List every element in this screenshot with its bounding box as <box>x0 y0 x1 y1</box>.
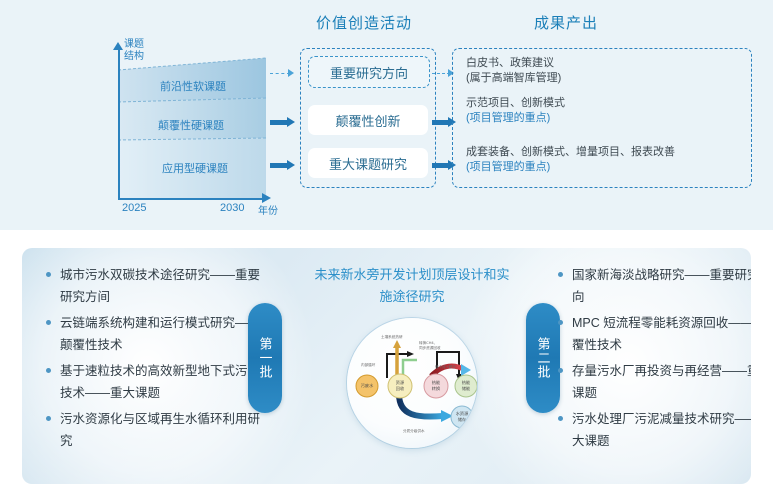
chart-y-axis-label: 课题 结构 <box>124 39 144 63</box>
list-item-text: 基于速粒技术的高效新型地下式污水技术——重大课题 <box>60 364 260 400</box>
slide-canvas: 价值创造活动 成果产出 <box>0 0 773 493</box>
arrow-chart-to-activity-2 <box>270 117 296 127</box>
list-item-text: 云链端系统构建和运行模式研究——颠覆性技术 <box>60 316 260 352</box>
svg-text:储个月+超长: 储个月+超长 <box>435 364 456 369</box>
output-item-3-line2: (项目管理的重点) <box>466 160 675 175</box>
svg-text:内部循环: 内部循环 <box>361 362 376 367</box>
header-output: 成果产出 <box>534 12 598 33</box>
header-value-creation: 价值创造活动 <box>316 12 412 33</box>
svg-text:资源: 资源 <box>396 379 405 386</box>
badge-batch-two-label: 第二批 <box>535 337 552 379</box>
bullet-icon <box>46 320 51 325</box>
list-item-text: 污水资源化与区域再生水循环利用研究 <box>60 412 260 448</box>
list-item-text: 城市污水双碳技术途径研究——重要研究方间 <box>60 268 260 304</box>
activity-box-3[interactable]: 重大课题研究 <box>308 148 428 178</box>
output-item-3-line1: 成套装备、创新模式、增量项目、报表改善 <box>466 145 675 160</box>
svg-text:转换: 转换 <box>432 385 441 392</box>
bottom-panel: 城市污水双碳技术途径研究——重要研究方间 云链端系统构建和运行模式研究——颠覆性… <box>22 248 751 484</box>
chart-band-label-1: 前沿性软课题 <box>160 78 226 94</box>
bullet-icon <box>46 272 51 277</box>
svg-text:水资源: 水资源 <box>456 410 469 417</box>
list-item: 污水处理厂污泥减量技术研究——重大课题 <box>556 408 751 452</box>
list-item-text: 国家新海淡战略研究——重要研究方向 <box>572 268 751 304</box>
center-title: 未来新水旁开发计划顶层设计和实施途径研究 <box>312 264 512 308</box>
svg-text:土壤系统热研: 土壤系统热研 <box>381 334 403 339</box>
process-diagram: 污废水 资源回收 热能转换 热能储能 水资源储存 土壤系统热研 内部循环 转换C… <box>347 318 477 448</box>
list-item-text: MPC 短流程零能耗资源回收——颠覆性技术 <box>572 316 751 352</box>
list-item: 污水资源化与区域再生水循环利用研究 <box>44 408 262 452</box>
batch-one-list: 城市污水双碳技术途径研究——重要研究方间 云链端系统构建和运行模式研究——颠覆性… <box>44 264 262 456</box>
chart-x-tick-end: 2030 <box>220 202 244 214</box>
arrow-chart-to-activity-1 <box>270 68 296 78</box>
list-item-text: 存量污水厂再投资与再经营——重大课题 <box>572 364 751 400</box>
chart-y-axis <box>118 48 120 200</box>
process-diagram-svg: 污废水 资源回收 热能转换 热能储能 水资源储存 土壤系统热研 内部循环 转换C… <box>347 318 477 448</box>
chart-y-axis-arrow <box>113 42 123 50</box>
svg-text:同步资源回收: 同步资源回收 <box>419 345 441 350</box>
arrow-chart-to-activity-3 <box>270 160 296 170</box>
svg-text:回收: 回收 <box>396 385 405 392</box>
svg-text:热能: 热能 <box>462 379 471 386</box>
chart-x-axis <box>118 198 266 200</box>
svg-text:热能: 热能 <box>432 379 441 386</box>
output-item-2: 示范项目、创新模式 (项目管理的重点) <box>466 96 565 126</box>
chart-band-label-3: 应用型硬课题 <box>162 160 228 176</box>
output-item-1-line2: (属于高端智库管理) <box>466 71 561 86</box>
bullet-icon <box>46 368 51 373</box>
output-item-3: 成套装备、创新模式、增量项目、报表改善 (项目管理的重点) <box>466 145 675 175</box>
topic-structure-chart: 课题 结构 前沿性软课题 颠覆性硬课题 应用型硬课题 2025 2030 年份 <box>110 40 290 210</box>
bullet-icon <box>558 368 563 373</box>
badge-batch-one: 第一批 <box>248 303 282 413</box>
svg-text:转换CH4、: 转换CH4、 <box>419 340 437 345</box>
output-item-2-line1: 示范项目、创新模式 <box>466 96 565 111</box>
batch-two-list: 国家新海淡战略研究——重要研究方向 MPC 短流程零能耗资源回收——颠覆性技术 … <box>556 264 751 456</box>
list-item: 国家新海淡战略研究——重要研究方向 <box>556 264 751 308</box>
svg-text:储存: 储存 <box>458 416 466 423</box>
activity-box-1[interactable]: 重要研究方向 <box>308 56 430 88</box>
svg-text:储能: 储能 <box>462 385 471 392</box>
bullet-icon <box>558 272 563 277</box>
list-item: MPC 短流程零能耗资源回收——颠覆性技术 <box>556 312 751 356</box>
badge-batch-two: 第二批 <box>526 303 560 413</box>
bullet-icon <box>46 416 51 421</box>
list-item: 基于速粒技术的高效新型地下式污水技术——重大课题 <box>44 360 262 404</box>
list-item: 存量污水厂再投资与再经营——重大课题 <box>556 360 751 404</box>
list-item: 城市污水双碳技术途径研究——重要研究方间 <box>44 264 262 308</box>
svg-text:分质分级供水: 分质分级供水 <box>403 428 425 433</box>
bullet-icon <box>558 416 563 421</box>
chart-x-tick-start: 2025 <box>122 202 146 214</box>
output-item-1: 白皮书、政策建议 (属于高端智库管理) <box>466 56 561 86</box>
bullet-icon <box>558 320 563 325</box>
output-item-1-line1: 白皮书、政策建议 <box>466 56 561 71</box>
list-item: 云链端系统构建和运行模式研究——颠覆性技术 <box>44 312 262 356</box>
chart-x-axis-unit: 年份 <box>258 202 278 217</box>
output-item-2-line2: (项目管理的重点) <box>466 111 565 126</box>
list-item-text: 污水处理厂污泥减量技术研究——重大课题 <box>572 412 751 448</box>
activity-box-2[interactable]: 颠覆性创新 <box>308 105 428 135</box>
chart-band-label-2: 颠覆性硬课题 <box>158 117 224 133</box>
badge-batch-one-label: 第一批 <box>257 337 274 379</box>
top-panel: 价值创造活动 成果产出 <box>0 0 773 230</box>
svg-text:污废水: 污废水 <box>361 382 374 389</box>
